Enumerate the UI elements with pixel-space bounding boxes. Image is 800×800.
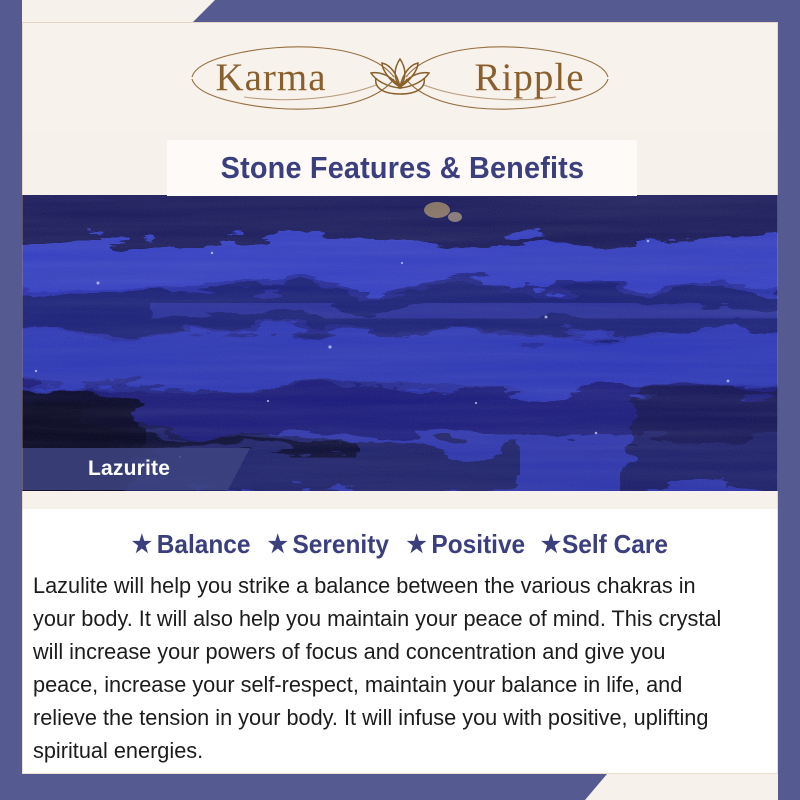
stone-description: Lazulite will help you strike a balance …	[33, 569, 735, 767]
star-icon: ★	[406, 533, 426, 557]
content-panel: ★ Balance ★ Serenity ★ Positive ★ Self C…	[22, 491, 778, 774]
brand-logo: Karma Ripple	[190, 37, 610, 117]
content-top-strip	[22, 491, 778, 509]
star-icon: ★	[131, 533, 151, 557]
frame-right-border	[778, 0, 800, 800]
benefits-list: ★ Balance ★ Serenity ★ Positive ★ Self C…	[22, 529, 778, 560]
section-title-plate: Stone Features & Benefits	[167, 140, 637, 196]
benefit-label: Self Care	[562, 529, 668, 560]
brand-header: Karma Ripple	[22, 22, 778, 132]
benefit-item: ★ Positive	[397, 529, 525, 560]
benefit-item: ★ Self Care	[533, 529, 668, 560]
brand-name-first: Karma	[215, 58, 326, 97]
stone-texture	[0, 195, 800, 491]
stone-name-band: Lazurite	[0, 448, 250, 490]
benefit-label: Serenity	[292, 529, 388, 560]
benefit-label: Positive	[431, 529, 525, 560]
brand-name-second: Ripple	[475, 58, 585, 97]
star-icon: ★	[267, 533, 287, 557]
frame-bottom-border	[0, 774, 800, 800]
frame-top-border	[0, 0, 800, 22]
benefit-item: ★ Serenity	[258, 529, 389, 560]
frame-left-border	[0, 0, 22, 800]
page-title: Stone Features & Benefits	[220, 150, 584, 186]
benefit-item: ★ Balance	[131, 529, 250, 560]
star-icon: ★	[541, 533, 561, 557]
stone-photo	[0, 195, 800, 491]
stone-info-card: Karma Ripple Stone Features & Benefits L…	[0, 0, 800, 800]
benefit-label: Balance	[156, 529, 250, 560]
stone-name: Lazurite	[0, 457, 170, 481]
